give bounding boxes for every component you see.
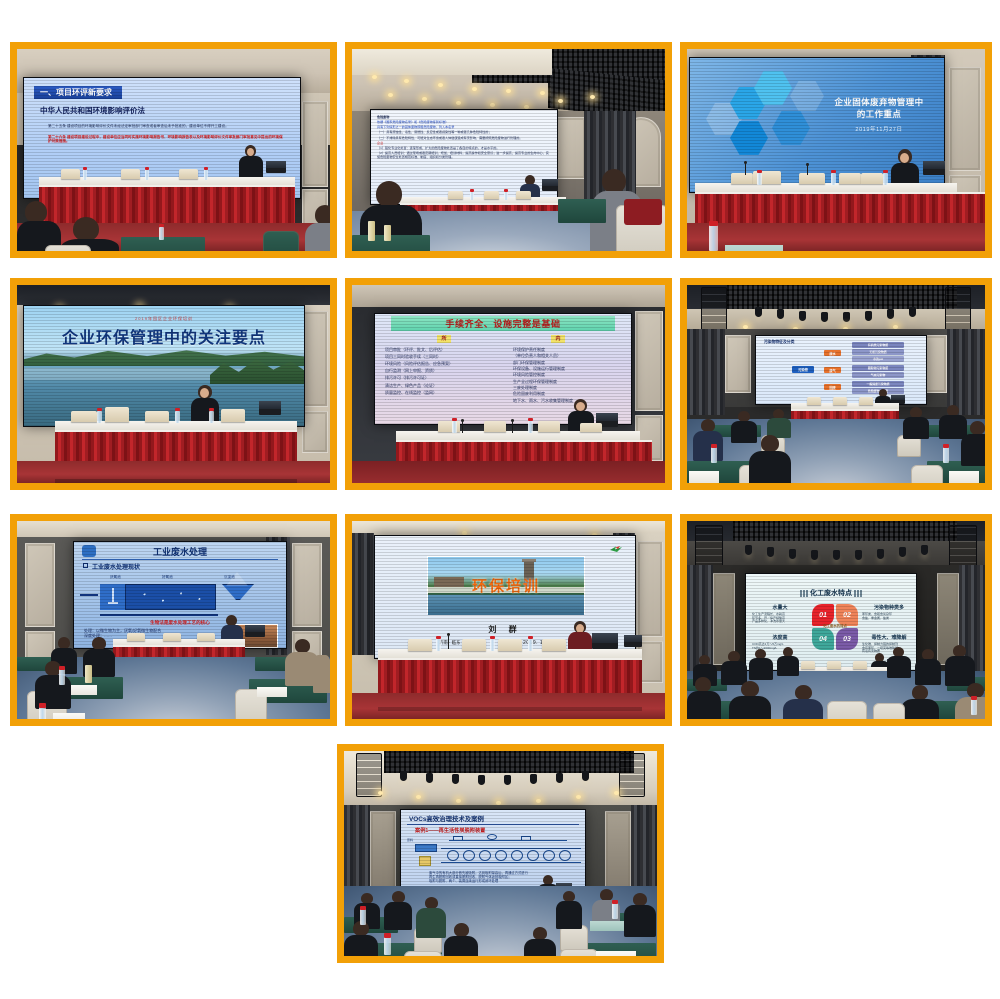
flow-root: 污染物 <box>792 366 814 373</box>
left-item-3: 自行监测（网上申报、资质） <box>385 369 503 374</box>
photo-7[interactable]: 工业废水处理 工业废水处理现状 厌氧池 好氧池 沉淀池 <box>10 514 337 726</box>
slide-eyebrow: 2019年园区企业环保培训 <box>24 316 304 322</box>
photo-1-image: 一、项目环评新要求 中华人民共和国环境影响评价法 第二十五条 建设项目的环境影响… <box>17 49 330 251</box>
block-3-heading: 毒性大、难降解 <box>862 634 916 641</box>
left-item-2: 环境风险（风险评估报告、应急预案） <box>385 362 503 367</box>
right-item-4: 环境风险管控制度 <box>513 373 629 378</box>
photo-1[interactable]: 一、项目环评新要求 中华人民共和国环境影响评价法 第二十五条 建设项目的环境影响… <box>10 42 337 258</box>
flow-branch-1: 废气 <box>824 367 841 373</box>
slide-band-title: 一、项目环评新要求 <box>34 86 122 99</box>
slide-col-right-tag: 内 <box>551 335 565 343</box>
slide-title-line-1: 企业固体废弃物管理中 <box>818 96 940 108</box>
slide-title: 企业环保管理中的关注要点 <box>24 324 304 348</box>
photo-10-image: VOCs高效治理技术及案例 案例1——再生活性炭脱附装置 原料 <box>344 751 657 956</box>
photo-5-image: 手续齐全、设施完整是基础 所 内 项目审批（环评、批文、后评估） 项目三同时验收… <box>352 285 665 483</box>
slide-title: VOCs高效治理技术及案例 <box>409 814 484 823</box>
slide-bullet-7: （2）提高人员培训：通过现场或者定期培训，增加、培训材料，提高操作和安全意识；进… <box>377 152 551 159</box>
left-item-6: 质量监控、在线监控（监网） <box>385 391 503 396</box>
photo-6[interactable]: 污染物特征及分类 污染物 废水 废气 固废 有机类污染物质 无机污染物质 水的p… <box>680 278 992 490</box>
slide-title: 工业废水处理 <box>74 545 286 558</box>
flow-leaf-0-2: 水的pH <box>852 356 904 362</box>
slide-title: 手续齐全、设施完整是基础 <box>445 317 560 330</box>
flow-leaf-1-0: 颗粒物污染物质 <box>852 365 904 371</box>
photo-9[interactable]: 化工废水特点 01 02 03 04 化工废水的特点 水量大 化工生产流程长、水… <box>680 514 992 726</box>
slide-paragraph-2: 第二十六条 建设项目建设过程中，建设单位应当同时实施环境影响报告书、环境影响报告… <box>48 135 286 143</box>
photo-9-image: 化工废水特点 01 02 03 04 化工废水的特点 水量大 化工生产流程长、水… <box>687 521 985 719</box>
photo-3-image: 企业固体废弃物管理中 的工作重点 2019年11月27日 <box>687 49 985 251</box>
slide-title-line-2: 的工作重点 <box>818 108 940 120</box>
right-item-1: （单位负责人和相关人员） <box>513 354 629 359</box>
block-2-heading: 浓度高 <box>752 634 808 641</box>
slide-paragraph-1: 第二十五条 建设项目的环境影响评价文件未经法定审批部门审查或者审查后未予批准的，… <box>48 124 286 128</box>
photo-4-speaker <box>191 385 219 425</box>
slide-subtitle: 工业废水处理现状 <box>92 562 140 571</box>
photo-6-slide: 污染物特征及分类 污染物 废水 废气 固废 有机类污染物质 无机污染物质 水的p… <box>756 336 926 404</box>
photo-3[interactable]: 企业固体废弃物管理中 的工作重点 2019年11月27日 <box>680 42 992 258</box>
block-1-item-1: 含盐、重金属、盐类 <box>862 617 916 621</box>
org-logo-icon <box>609 542 623 552</box>
photo-7-image: 工业废水处理 工业废水处理现状 厌氧池 好氧池 沉淀池 <box>17 521 330 719</box>
block-1-heading: 污染物种类多 <box>862 604 916 611</box>
slide-date: 2019年11月27日 <box>818 125 940 133</box>
right-item-7: 危险固废利用制度 <box>513 392 629 397</box>
slide-affiliation: 沂南 · 临东 <box>439 640 460 646</box>
left-item-7: · · · · · · · <box>385 398 503 403</box>
slide-bullet-3: （一）具有腐蚀性、毒性、易燃性、反应性或者感染性等一种或者几种危险特性的； <box>377 131 551 135</box>
right-item-0: 环境保护责任制度 <box>513 348 629 353</box>
right-item-6: 三废处理制度 <box>513 386 629 391</box>
right-item-5: 生产全过程环保管理制度 <box>513 380 629 385</box>
flow-leaf-0-1: 无机污染物质 <box>852 349 904 355</box>
block-0-item-2: 产品多样化、冲洗水量大 <box>752 620 808 624</box>
right-item-2: 部门环保管理制度 <box>513 361 629 366</box>
flow-branch-0: 废水 <box>824 350 841 356</box>
photo-4[interactable]: 2019年园区企业环保培训 企业环保管理中的关注要点 <box>10 278 337 490</box>
slide-heading: 中华人民共和国环境影响评价法 <box>40 105 296 116</box>
flow-leaf-2-0: 一般固废污染物质 <box>852 381 904 387</box>
photo-8[interactable]: 环保培训 刘 群 沂南 · 临东 2019. 11. 29 <box>345 514 672 726</box>
slide-title: 环保培训 <box>428 575 584 596</box>
left-item-5: 清洁生产、绿色产品（论证） <box>385 384 503 389</box>
photo-2-image: 危险废物 依据《国家危险废物名录》和《危险废物鉴别标准》 具有下列情形之一的固体… <box>352 49 665 251</box>
slide-subtitle: 案例1——再生活性炭脱附装置 <box>415 827 485 834</box>
left-item-0: 项目审批（环评、批文、后评估） <box>385 348 503 353</box>
slide-col-left-tag: 所 <box>437 335 451 343</box>
petal-04: 04 <box>812 628 834 650</box>
flow-branch-2: 固废 <box>824 384 841 390</box>
photo-2[interactable]: 危险废物 依据《国家危险废物名录》和《危险废物鉴别标准》 具有下列情形之一的固体… <box>345 42 672 258</box>
photo-1-speaker <box>239 145 263 179</box>
chart-icon-right <box>854 590 862 597</box>
slide-bullet-4: （二）不排除具有危险特性，可能对生态环境或者人体健康造成有害影响，需要按照危险废… <box>377 137 551 141</box>
left-item-4: 排污许可（排污许可证） <box>385 376 503 381</box>
petal-center-label: 化工废水的特点 <box>808 623 862 628</box>
slide-bullet-6: （1）强化专业化处置：逐渐形成、扩大的危险废物处置是了各自的特点的，才是水平的。 <box>377 147 551 151</box>
flow-leaf-1-1: 气态污染物 <box>852 372 904 378</box>
flow-leaf-0-0: 有机类污染物质 <box>852 342 904 348</box>
petal-03: 03 <box>836 628 858 650</box>
photo-10[interactable]: VOCs高效治理技术及案例 案例1——再生活性炭脱附装置 原料 <box>337 744 664 963</box>
photo-1-laptop <box>266 161 286 173</box>
slide-bullet-5: 企业 <box>377 142 551 146</box>
photo-5[interactable]: 手续齐全、设施完整是基础 所 内 项目审批（环评、批文、后评估） 项目三同时验收… <box>345 278 672 490</box>
photo-6-image: 污染物特征及分类 污染物 废水 废气 固废 有机类污染物质 无机污染物质 水的p… <box>687 285 985 483</box>
photo-4-image: 2019年园区企业环保培训 企业环保管理中的关注要点 <box>17 285 330 483</box>
photo-collage: 一、项目环评新要求 中华人民共和国环境影响评价法 第二十五条 建设项目的环境影响… <box>0 0 1000 999</box>
slide-title: 化工废水特点 <box>746 588 916 598</box>
photo-8-image: 环保培训 刘 群 沂南 · 临东 2019. 11. 29 <box>352 521 665 719</box>
right-item-3: 环保设备、设施运行管理制度 <box>513 367 629 372</box>
left-item-1: 项目三同时验收手续（三同时） <box>385 355 503 360</box>
block-0-heading: 水量大 <box>752 604 808 611</box>
